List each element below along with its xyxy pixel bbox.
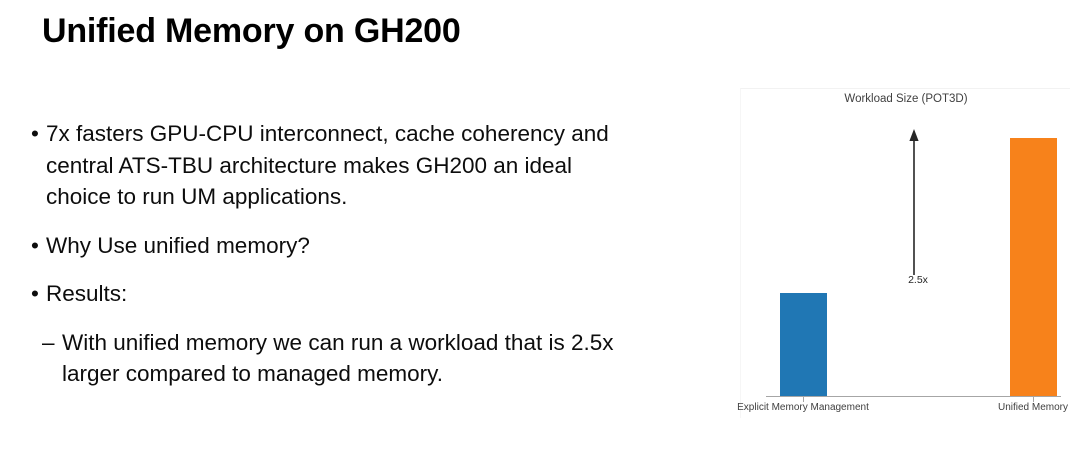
bar-explicit-memory-management — [780, 293, 827, 396]
chart-plot-area: Explicit Memory Management Unified Memor… — [741, 89, 1071, 419]
list-item-label: Why Use unified memory? — [46, 230, 628, 262]
list-item-label: Results: — [46, 278, 628, 310]
bullet-marker-icon: • — [31, 278, 39, 310]
list-item-sub: – With unified memory we can run a workl… — [28, 327, 628, 390]
dash-marker-icon: – — [42, 327, 55, 359]
x-axis-label-0: Explicit Memory Management — [737, 402, 869, 413]
page-title: Unified Memory on GH200 — [42, 10, 461, 52]
list-item: • Results: — [28, 278, 628, 310]
list-item-sub-label: With unified memory we can run a workloa… — [62, 327, 628, 390]
up-arrow-icon — [901, 127, 927, 275]
chart-annotation-label: 2.5x — [908, 274, 928, 286]
bar-chart: Workload Size (POT3D) Explicit Memory Ma… — [740, 88, 1070, 418]
slide-canvas: Unified Memory on GH200 • 7x fasters GPU… — [0, 0, 1080, 467]
bullet-marker-icon: • — [31, 118, 39, 150]
list-item: • 7x fasters GPU-CPU interconnect, cache… — [28, 118, 628, 213]
bullet-marker-icon: • — [31, 230, 39, 262]
bar-unified-memory — [1010, 138, 1057, 396]
slide-body: • 7x fasters GPU-CPU interconnect, cache… — [28, 118, 628, 390]
x-axis-label-1: Unified Memory — [998, 402, 1068, 413]
list-item: • Why Use unified memory? — [28, 230, 628, 262]
list-item-label: 7x fasters GPU-CPU interconnect, cache c… — [46, 118, 628, 213]
chart-axis-line — [766, 396, 1061, 397]
